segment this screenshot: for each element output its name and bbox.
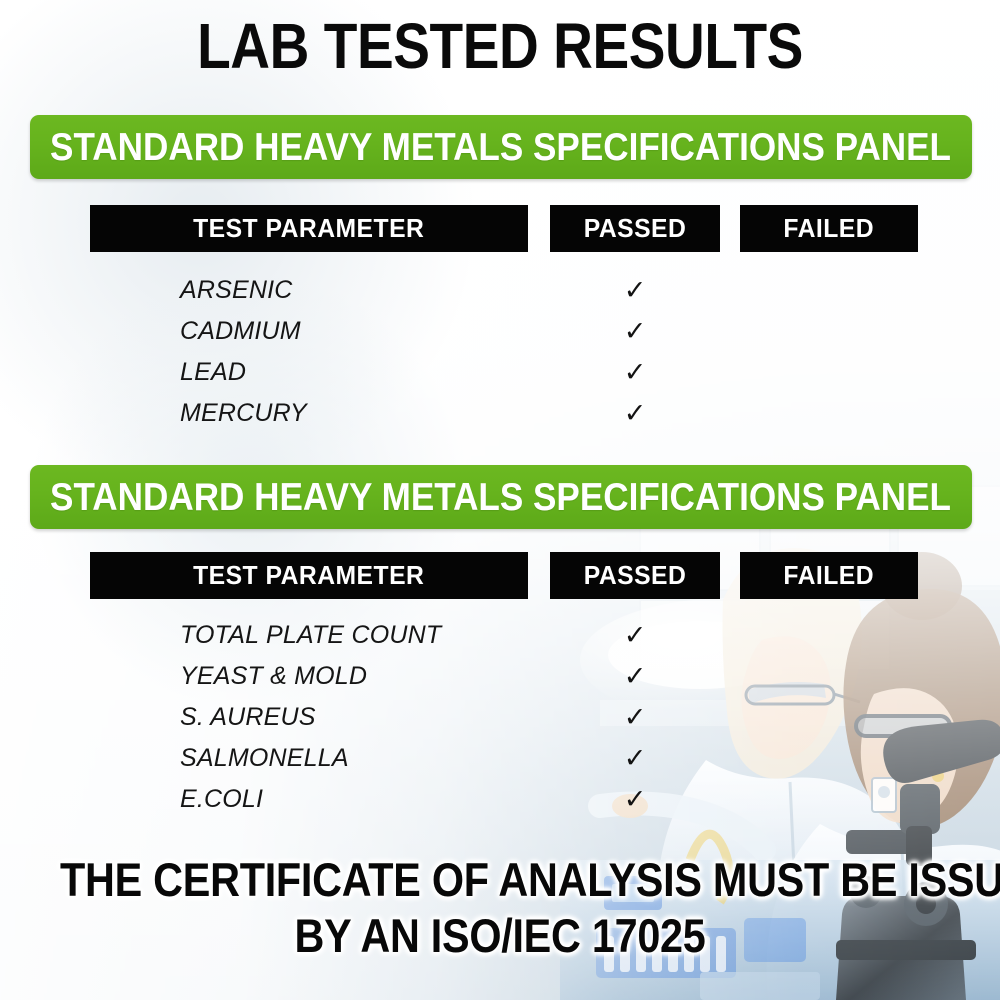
table-row: ARSENIC ✓ (0, 270, 1000, 311)
table-row: SALMONELLA ✓ (0, 738, 1000, 779)
column-header-label: TEST PARAMETER (193, 213, 424, 244)
table-1-header-passed: PASSED (550, 205, 720, 252)
column-header-label: TEST PARAMETER (193, 560, 424, 591)
check-icon: ✓ (622, 697, 648, 738)
test-parameter-label: YEAST & MOLD (180, 656, 367, 697)
table-row: TOTAL PLATE COUNT ✓ (0, 615, 1000, 656)
column-header-label: FAILED (784, 560, 875, 591)
table-1-header-failed: FAILED (740, 205, 918, 252)
column-header-label: PASSED (584, 560, 687, 591)
panel-banner-microbial: STANDARD HEAVY METALS SPECIFICATIONS PAN… (30, 465, 972, 529)
check-icon: ✓ (622, 311, 648, 352)
check-icon: ✓ (622, 393, 648, 434)
check-icon: ✓ (622, 615, 648, 656)
table-1-header-test-parameter: TEST PARAMETER (90, 205, 528, 252)
table-row: S. AUREUS ✓ (0, 697, 1000, 738)
check-icon: ✓ (622, 352, 648, 393)
page-title: LAB TESTED RESULTS (70, 14, 930, 78)
check-icon: ✓ (622, 270, 648, 311)
test-parameter-label: LEAD (180, 352, 246, 393)
table-row: CADMIUM ✓ (0, 311, 1000, 352)
test-parameter-label: SALMONELLA (180, 738, 349, 779)
certificate-statement: THE CERTIFICATE OF ANALYSIS MUST BE ISSU… (0, 852, 1000, 964)
table-2-header-test-parameter: TEST PARAMETER (90, 552, 528, 599)
test-parameter-label: CADMIUM (180, 311, 301, 352)
check-icon: ✓ (622, 779, 648, 820)
table-2-body: TOTAL PLATE COUNT ✓ YEAST & MOLD ✓ S. AU… (0, 615, 1000, 820)
table-2-header-failed: FAILED (740, 552, 918, 599)
panel-banner-label: STANDARD HEAVY METALS SPECIFICATIONS PAN… (51, 478, 952, 517)
column-header-label: FAILED (784, 213, 875, 244)
poster-content: LAB TESTED RESULTS STANDARD HEAVY METALS… (0, 0, 1000, 1000)
column-header-label: PASSED (584, 213, 687, 244)
test-parameter-label: ARSENIC (180, 270, 293, 311)
certificate-statement-line-2: BY AN ISO/IEC 17025 (60, 908, 940, 964)
certificate-statement-line-1: THE CERTIFICATE OF ANALYSIS MUST BE ISSU… (60, 852, 940, 908)
table-2-header-passed: PASSED (550, 552, 720, 599)
table-row: YEAST & MOLD ✓ (0, 656, 1000, 697)
table-row: MERCURY ✓ (0, 393, 1000, 434)
table-1-body: ARSENIC ✓ CADMIUM ✓ LEAD ✓ MERCURY ✓ (0, 270, 1000, 434)
table-row: E.COLI ✓ (0, 779, 1000, 820)
test-parameter-label: TOTAL PLATE COUNT (180, 615, 441, 656)
test-parameter-label: E.COLI (180, 779, 263, 820)
test-parameter-label: S. AUREUS (180, 697, 316, 738)
check-icon: ✓ (622, 738, 648, 779)
panel-banner-heavy-metals: STANDARD HEAVY METALS SPECIFICATIONS PAN… (30, 115, 972, 179)
panel-banner-label: STANDARD HEAVY METALS SPECIFICATIONS PAN… (51, 128, 952, 167)
lab-tested-results-poster: LAB TESTED RESULTS STANDARD HEAVY METALS… (0, 0, 1000, 1000)
test-parameter-label: MERCURY (180, 393, 307, 434)
table-row: LEAD ✓ (0, 352, 1000, 393)
check-icon: ✓ (622, 656, 648, 697)
